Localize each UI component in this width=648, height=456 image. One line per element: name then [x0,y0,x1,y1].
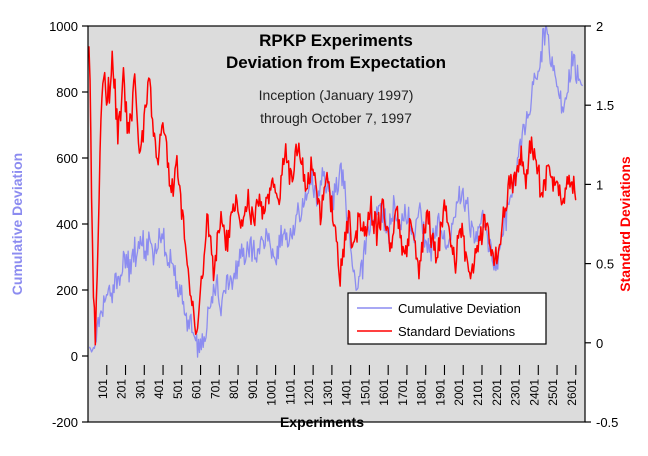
x-tick-label: 2301 [509,379,523,406]
x-axis-title: Experiments [280,414,364,430]
y-tick-label-right: 1 [596,177,603,192]
y-tick-label-left: 800 [56,85,78,100]
y-tick-label-right: 1.5 [596,98,614,113]
x-tick-label: 1001 [265,379,279,406]
x-tick-label: 901 [246,379,260,399]
chart-title-line2: Deviation from Expectation [226,53,446,72]
y-axis-left-title: Cumulative Deviation [9,153,25,295]
x-tick-label: 501 [171,379,185,399]
x-tick-label: 601 [190,379,204,399]
y-tick-label-right: -0.5 [596,415,618,430]
x-tick-label: 801 [227,379,241,399]
x-tick-label: 1801 [415,379,429,406]
chart-subtitle-line2: through October 7, 1997 [260,110,412,126]
x-tick-label: 1601 [377,379,391,406]
rpkp-deviation-chart: 10008006004002000-200 21.510.50-0.5 1012… [0,0,648,456]
x-tick-label: 1101 [283,379,297,405]
x-tick-label: 2601 [565,379,579,406]
y-tick-label-left: 0 [71,349,78,364]
y-tick-label-right: 0.5 [596,257,614,272]
y-axis-right-title: Standard Deviations [617,156,633,292]
y-tick-label-right: 2 [596,19,603,34]
y-tick-label-left: 600 [56,151,78,166]
plot-area-background [88,26,585,422]
y-tick-label-left: 200 [56,283,78,298]
x-tick-label: 1901 [433,379,447,406]
y-tick-label-left: -200 [52,415,78,430]
x-tick-label: 101 [96,379,110,399]
x-tick-label: 2101 [471,379,485,406]
x-tick-label: 1301 [321,379,335,406]
x-tick-label: 1501 [358,379,372,406]
y-tick-label-left: 400 [56,217,78,232]
chart-title-line1: RPKP Experiments [259,31,413,50]
x-tick-label: 2001 [452,379,466,406]
legend-label-standard-deviations[interactable]: Standard Deviations [398,324,516,339]
y-tick-label-left: 1000 [49,19,78,34]
y-tick-label-right: 0 [596,336,603,351]
x-tick-label: 2501 [546,379,560,406]
x-tick-label: 401 [152,379,166,399]
chart-legend[interactable]: Cumulative Deviation Standard Deviations [348,293,546,344]
x-tick-label: 201 [115,379,129,399]
x-tick-label: 1701 [396,379,410,406]
x-tick-label: 301 [133,379,147,399]
chart-subtitle-line1: Inception (January 1997) [259,87,414,103]
x-tick-label: 1401 [340,379,354,406]
x-tick-label: 2201 [490,379,504,406]
legend-label-cumulative-deviation[interactable]: Cumulative Deviation [398,301,521,316]
x-tick-label: 701 [208,379,222,399]
x-tick-label: 1201 [302,379,316,406]
x-tick-label: 2401 [527,379,541,406]
chart-page: 10008006004002000-200 21.510.50-0.5 1012… [0,0,648,456]
